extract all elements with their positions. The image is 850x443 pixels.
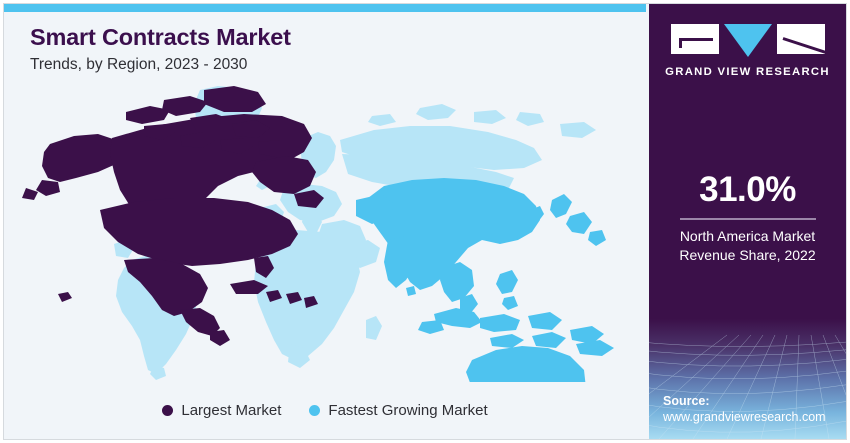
map-legend: Largest Market Fastest Growing Market bbox=[4, 402, 646, 419]
legend-item-fastest-growing-market: Fastest Growing Market bbox=[309, 402, 487, 419]
page-subtitle: Trends, by Region, 2023 - 2030 bbox=[30, 56, 247, 74]
legend-label: Largest Market bbox=[181, 402, 281, 419]
logo-v-triangle-icon bbox=[724, 24, 772, 57]
stat-caption-line-2: Revenue Share, 2022 bbox=[649, 246, 846, 265]
legend-item-largest-market: Largest Market bbox=[162, 402, 281, 419]
left-content-panel: Smart Contracts Market Trends, by Region… bbox=[4, 4, 646, 439]
circle-dot-icon bbox=[162, 405, 173, 416]
source-url[interactable]: www.grandviewresearch.com bbox=[663, 409, 843, 425]
stat-callout: 31.0% North America Market Revenue Share… bbox=[649, 172, 846, 265]
infographic-card: Smart Contracts Market Trends, by Region… bbox=[3, 3, 847, 440]
logo-g-mark bbox=[671, 24, 719, 54]
logo-r-mark bbox=[777, 24, 825, 54]
brand-logo: GRAND VIEW RESEARCH bbox=[649, 24, 846, 78]
logo-marks bbox=[671, 24, 825, 57]
top-accent-bar bbox=[4, 4, 646, 12]
brand-panel: GRAND VIEW RESEARCH 31.0% North America … bbox=[649, 4, 846, 439]
stat-caption-line-1: North America Market bbox=[649, 227, 846, 246]
legend-label: Fastest Growing Market bbox=[328, 402, 487, 419]
stat-divider bbox=[680, 218, 816, 220]
brand-name: GRAND VIEW RESEARCH bbox=[665, 66, 830, 78]
page-title: Smart Contracts Market bbox=[30, 24, 291, 51]
world-map bbox=[4, 82, 646, 382]
source-attribution: Source: www.grandviewresearch.com bbox=[663, 393, 843, 426]
stat-value: 31.0% bbox=[649, 172, 846, 209]
source-label: Source: bbox=[663, 393, 843, 409]
circle-dot-icon bbox=[309, 405, 320, 416]
